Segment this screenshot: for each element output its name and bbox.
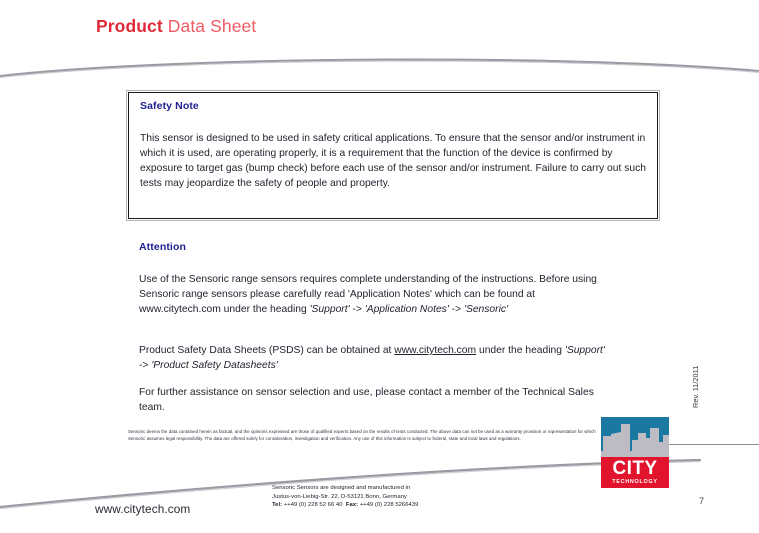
psds-support-ref: 'Support' <box>565 345 605 356</box>
footer-tel-label: Tel: <box>272 502 282 508</box>
attention-support-ref: 'Support' <box>310 304 350 315</box>
footer-tel-value: ++49 (0) 228 52 66 40 <box>282 502 342 508</box>
psds-datasheets-ref: 'Product Safety Datasheets' <box>151 360 277 371</box>
psds-text-middle: under the heading <box>476 345 565 356</box>
page-title-strong: Product <box>96 16 163 36</box>
safety-note-heading: Safety Note <box>140 100 199 112</box>
city-technology-logo: CITY TECHNOLOGY <box>601 417 669 488</box>
logo-wordmark-technology: TECHNOLOGY <box>601 479 669 485</box>
safety-note-box: Safety Note This sensor is designed to b… <box>128 92 658 219</box>
footer-fax-value: ++49 (0) 228 5266439 <box>358 502 418 508</box>
attention-heading: Attention <box>139 241 186 253</box>
attention-arrow-2: -> <box>449 304 464 315</box>
psds-arrow: -> <box>139 360 151 371</box>
logo-wordmark-city: CITY <box>601 459 669 478</box>
footer-address-line-2: Justus-von-Liebig-Str. 22, D-53121 Bonn,… <box>272 493 532 502</box>
revision-label: Rev. 11/2011 <box>691 348 700 408</box>
psds-text-prefix: Product Safety Data Sheets (PSDS) can be… <box>139 345 394 356</box>
page-number: 7 <box>699 496 704 506</box>
footer-address-block: Sensoric Sensors are designed and manufa… <box>272 484 532 510</box>
logo-skyline-graphic <box>601 417 669 457</box>
attention-sensoric-ref: 'Sensoric' <box>464 304 508 315</box>
product-data-sheet-page: Product Data Sheet Safety Note This sens… <box>0 0 759 533</box>
legal-disclaimer-text: Sensoric deems the data contained herein… <box>128 429 600 442</box>
psds-paragraph: Product Safety Data Sheets (PSDS) can be… <box>139 343 607 373</box>
page-title-light: Data Sheet <box>163 16 257 36</box>
logo-horizontal-rule <box>669 444 759 445</box>
top-swoosh-decoration <box>0 52 759 87</box>
safety-note-body: This sensor is designed to be used in sa… <box>140 131 646 191</box>
footer-contact-line: Tel: ++49 (0) 228 52 66 40 Fax: ++49 (0)… <box>272 501 532 510</box>
technical-sales-paragraph: For further assistance on sensor selecti… <box>139 385 607 415</box>
attention-arrow-1: -> <box>350 304 365 315</box>
logo-red-band: CITY TECHNOLOGY <box>601 457 669 488</box>
footer-website[interactable]: www.citytech.com <box>95 502 190 516</box>
footer-fax-label: Fax: <box>346 502 358 508</box>
page-title: Product Data Sheet <box>96 16 256 37</box>
citytech-link[interactable]: www.citytech.com <box>394 345 476 356</box>
attention-paragraph-application-notes: Use of the Sensoric range sensors requir… <box>139 272 607 317</box>
footer-address-line-1: Sensoric Sensors are designed and manufa… <box>272 484 532 493</box>
attention-application-notes-ref: 'Application Notes' <box>365 304 449 315</box>
